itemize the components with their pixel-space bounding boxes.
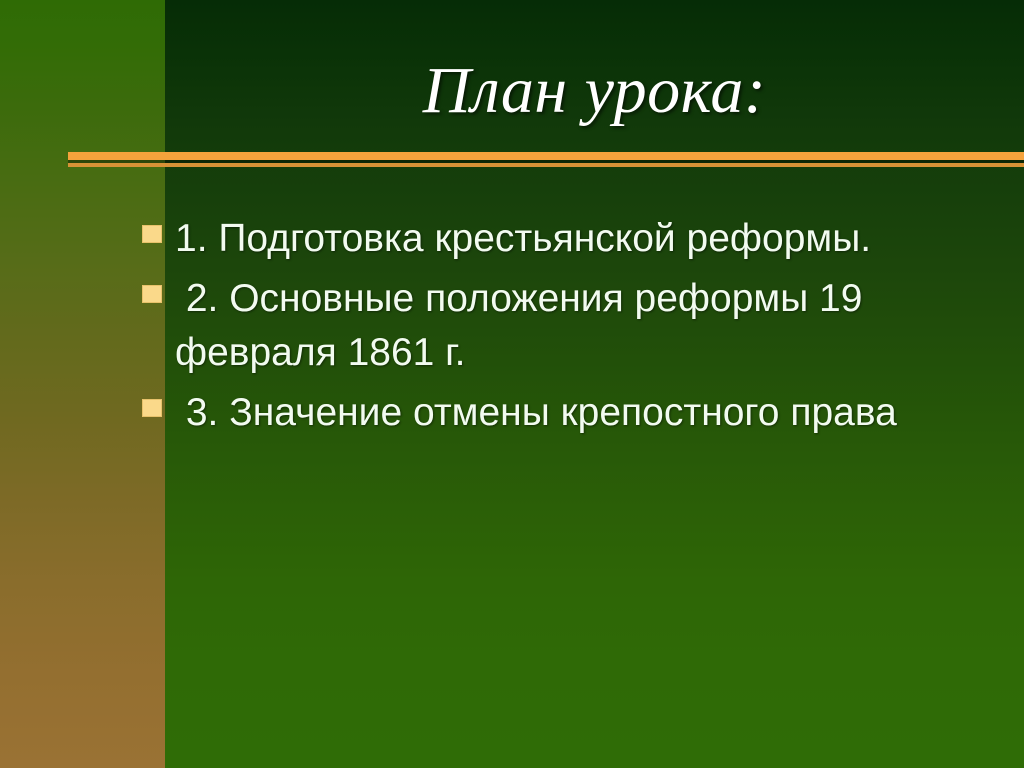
list-item: 2. Основные положения реформы 19 февраля… <box>142 272 1024 380</box>
list-item: 3. Значение отмены крепостного права <box>142 386 1024 440</box>
page-title: План урока: <box>165 58 1024 124</box>
presentation-slide: План урока: 1. Подготовка крестьянской р… <box>0 0 1024 768</box>
bullet-list: 1. Подготовка крестьянской реформы. 2. О… <box>142 212 1024 446</box>
list-item: 1. Подготовка крестьянской реформы. <box>142 212 1024 266</box>
list-item-label: 3. Значение отмены крепостного права <box>142 386 1024 440</box>
square-bullet-icon <box>142 399 162 417</box>
square-bullet-icon <box>142 225 162 243</box>
list-item-label: 2. Основные положения реформы 19 февраля… <box>142 272 1024 380</box>
square-bullet-icon <box>142 285 162 303</box>
list-item-label: 1. Подготовка крестьянской реформы. <box>142 212 1024 266</box>
sidebar-gradient-band <box>0 0 165 768</box>
